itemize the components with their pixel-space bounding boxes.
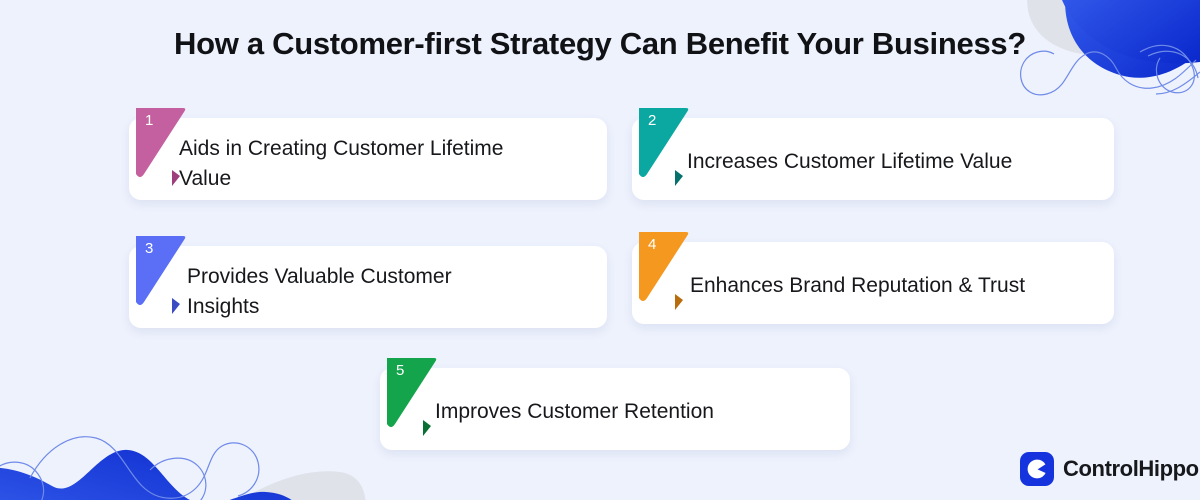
deco-shadow-bottom-left <box>190 471 366 500</box>
card-1-number: 1 <box>145 113 153 128</box>
deco-wave-line-bottom-2 <box>30 437 259 499</box>
page-title: How a Customer-first Strategy Can Benefi… <box>0 26 1200 62</box>
card-5-badge-triangle <box>387 358 436 427</box>
card-2-badge-triangle <box>639 108 688 177</box>
deco-wave-line-top-4 <box>1156 72 1200 94</box>
card-2-badge-fold <box>675 170 683 186</box>
card-4-badge: 4 <box>639 232 694 308</box>
card-1-text: Aids in Creating Customer Lifetime Value <box>179 134 509 194</box>
card-1-badge-triangle <box>136 108 185 177</box>
card-3-badge-triangle <box>136 236 185 305</box>
card-4-badge-triangle <box>639 232 688 301</box>
card-4-badge-fold <box>675 294 683 310</box>
card-3-badge-fold <box>172 298 180 314</box>
card-5-number: 5 <box>396 363 404 378</box>
card-3-text: Provides Valuable Customer Insights <box>187 262 527 322</box>
card-3-number: 3 <box>145 241 153 256</box>
card-2-badge: 2 <box>639 108 694 184</box>
deco-wave-line-bottom-3 <box>150 458 206 500</box>
card-5-badge: 5 <box>387 358 442 434</box>
card-5-text: Improves Customer Retention <box>435 397 825 427</box>
controlhippo-logo-icon <box>1020 452 1054 486</box>
card-4-number: 4 <box>648 237 656 252</box>
card-2-text: Increases Customer Lifetime Value <box>687 147 1097 177</box>
controlhippo-logo-text: ControlHippo <box>1063 456 1199 482</box>
card-2-number: 2 <box>648 113 656 128</box>
deco-wave-line-bottom-1 <box>0 462 44 500</box>
card-3-badge: 3 <box>136 236 191 312</box>
controlhippo-logo[interactable]: ControlHippo <box>1020 452 1199 486</box>
card-4-text: Enhances Brand Reputation & Trust <box>690 271 1100 301</box>
deco-blob-bottom-left <box>0 450 314 500</box>
card-5-badge-fold <box>423 420 431 436</box>
